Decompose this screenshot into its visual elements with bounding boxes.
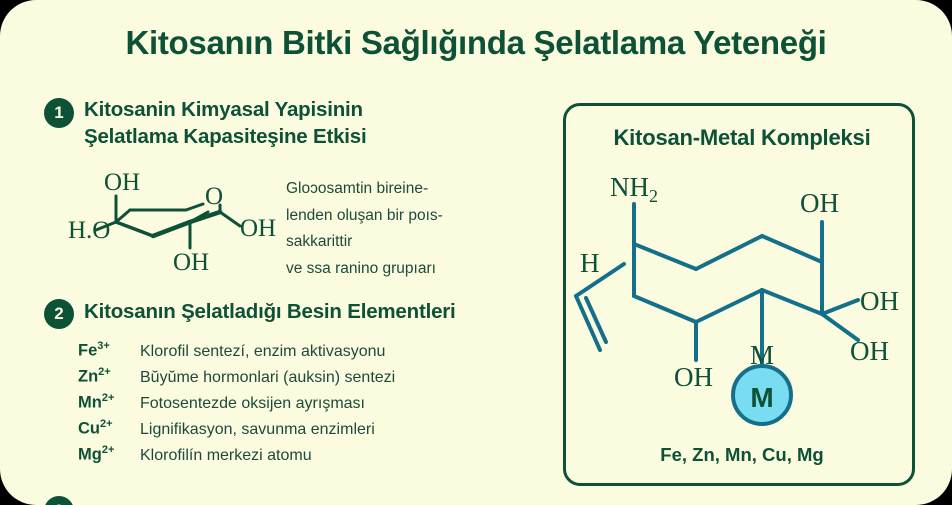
infographic-page: Kitosanın Bitki Sağlığında Şelatlama Yet… — [0, 0, 952, 505]
label-oh-top: OH — [104, 169, 140, 196]
element-description: Klorofil sentezí, enzim aktivasyonu — [140, 343, 385, 361]
element-symbol: Fe3+ — [78, 340, 140, 361]
section-1-number-badge: 1 — [44, 98, 74, 128]
kitosan-metal-complex-card: Kitosan-Metal Kompleksi — [563, 103, 915, 486]
label-hydrogen: H — [580, 248, 600, 278]
section-3-number-badge: 3 — [44, 496, 74, 505]
element-symbol: Mg2+ — [78, 444, 140, 465]
element-symbol: Zn2+ — [78, 366, 140, 387]
section-1-paragraph: Gloɔosamtin bireine- lenden oluşan bir p… — [286, 176, 556, 282]
card-title: Kitosan-Metal Kompleksi — [566, 125, 918, 151]
section-1-heading-line2: Şelatlama Kapasiteşine Etkisi — [84, 123, 504, 150]
section-1-heading: Kitosanin Kimyasal Yapisinin Şelatlama K… — [84, 96, 504, 150]
section-2-number-badge: 2 — [44, 299, 74, 329]
element-description: Fotosentezde oksijen ayrışması — [140, 395, 365, 413]
element-symbol: Cu2+ — [78, 418, 140, 439]
label-oh-top: OH — [800, 188, 839, 218]
label-oh-right: OH — [240, 215, 276, 242]
section-2-heading: Kitosanın Şelatladığı Besin Elementleri — [84, 298, 554, 325]
element-symbol: Mn2+ — [78, 392, 140, 413]
paragraph-line-3: sakkarittir — [286, 229, 556, 256]
nutrient-elements-list: Fe3+ Klorofil sentezí, enzim aktivasyonu… — [78, 340, 548, 470]
kitosan-metal-complex-diagram: NH2 OH H OH M OH OH M — [566, 164, 918, 454]
page-title: Kitosanın Bitki Sağlığında Şelatlama Yet… — [0, 24, 952, 62]
label-oh-right-lower: OH — [850, 336, 889, 366]
label-oh-right-upper: OH — [860, 286, 899, 316]
label-ring-oxygen: O — [205, 183, 223, 210]
element-description: Lignifikasyon, savunma enzimleri — [140, 421, 375, 439]
list-item: Zn2+ Bŭyŭme hormonlari (auksin) sentezi — [78, 366, 548, 387]
section-1-heading-line1: Kitosanin Kimyasal Yapisinin — [84, 96, 504, 123]
list-item: Mg2+ Klorofilín merkezi atomu — [78, 444, 548, 465]
paragraph-line-4: ve ssa ranino grupıarı — [286, 256, 556, 283]
list-item: Mn2+ Fotosentezde oksijen ayrışması — [78, 392, 548, 413]
label-oh-bottom-left: OH — [674, 362, 713, 392]
metal-circle-label: M — [750, 382, 773, 413]
label-ho-left: H.O — [68, 217, 110, 244]
list-item: Fe3+ Klorofil sentezí, enzim aktivasyonu — [78, 340, 548, 361]
label-oh-bottom: OH — [173, 249, 209, 276]
list-item: Cu2+ Lignifikasyon, savunma enzimleri — [78, 418, 548, 439]
paragraph-line-2: lenden oluşan bir poıs- — [286, 203, 556, 230]
element-description: Klorofilín merkezi atomu — [140, 447, 312, 465]
glucosamine-structure-diagram: OH H.O O OH OH — [68, 160, 283, 280]
element-description: Bŭyŭme hormonlari (auksin) sentezi — [140, 369, 395, 387]
paragraph-line-1: Gloɔosamtin bireine- — [286, 176, 556, 203]
card-footer-elements: Fe, Zn, Mn, Cu, Mg — [566, 444, 918, 466]
label-amine: NH2 — [610, 172, 658, 206]
